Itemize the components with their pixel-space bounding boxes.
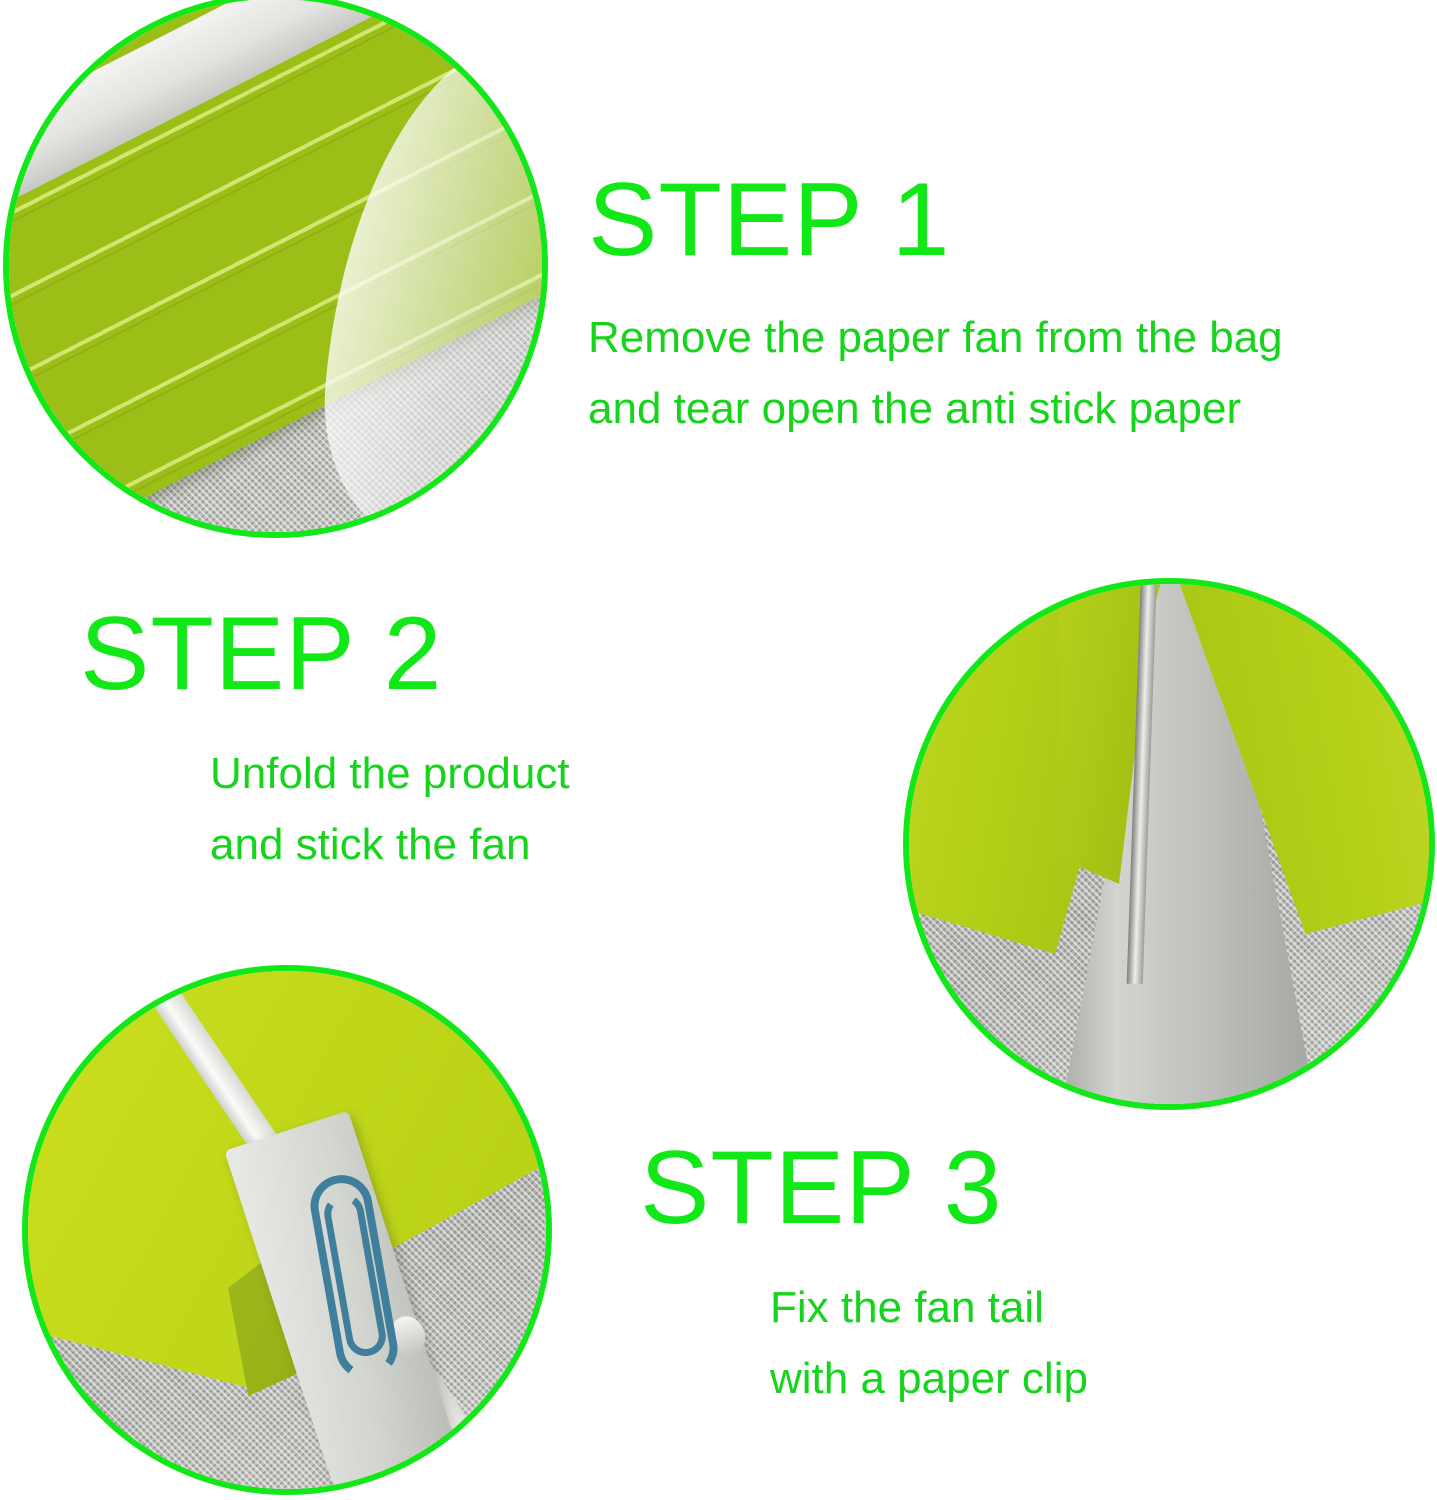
photo-step-2-content — [909, 584, 1429, 1104]
step-1-title: STEP 1 — [588, 168, 1283, 272]
photo-step-2 — [903, 578, 1435, 1110]
step-3-body: Fix the fan tail with a paper clip — [640, 1272, 1088, 1415]
step-3-title: STEP 3 — [640, 1136, 1088, 1240]
step-2-title: STEP 2 — [80, 602, 570, 706]
photo-step-1 — [3, 0, 548, 538]
step-1-line-1: Remove the paper fan from the bag — [588, 302, 1283, 373]
step-3-line-1: Fix the fan tail — [770, 1272, 1088, 1343]
step-1-body: Remove the paper fan from the bag and te… — [588, 302, 1283, 445]
photo-step-1-content — [9, 0, 542, 532]
photo-step-3-content — [28, 971, 546, 1489]
instruction-poster: STEP 1 Remove the paper fan from the bag… — [0, 0, 1437, 1500]
step-2-body: Unfold the product and stick the fan — [80, 738, 570, 881]
photo-step-3 — [22, 965, 552, 1495]
step-2-line-2: and stick the fan — [210, 809, 570, 880]
step-3-line-2: with a paper clip — [770, 1343, 1088, 1414]
step-1-line-2: and tear open the anti stick paper — [588, 373, 1283, 444]
step-2-text-block: STEP 2 Unfold the product and stick the … — [80, 602, 570, 881]
step-1-text-block: STEP 1 Remove the paper fan from the bag… — [588, 168, 1283, 445]
step-2-line-1: Unfold the product — [210, 738, 570, 809]
step-3-text-block: STEP 3 Fix the fan tail with a paper cli… — [640, 1136, 1088, 1415]
